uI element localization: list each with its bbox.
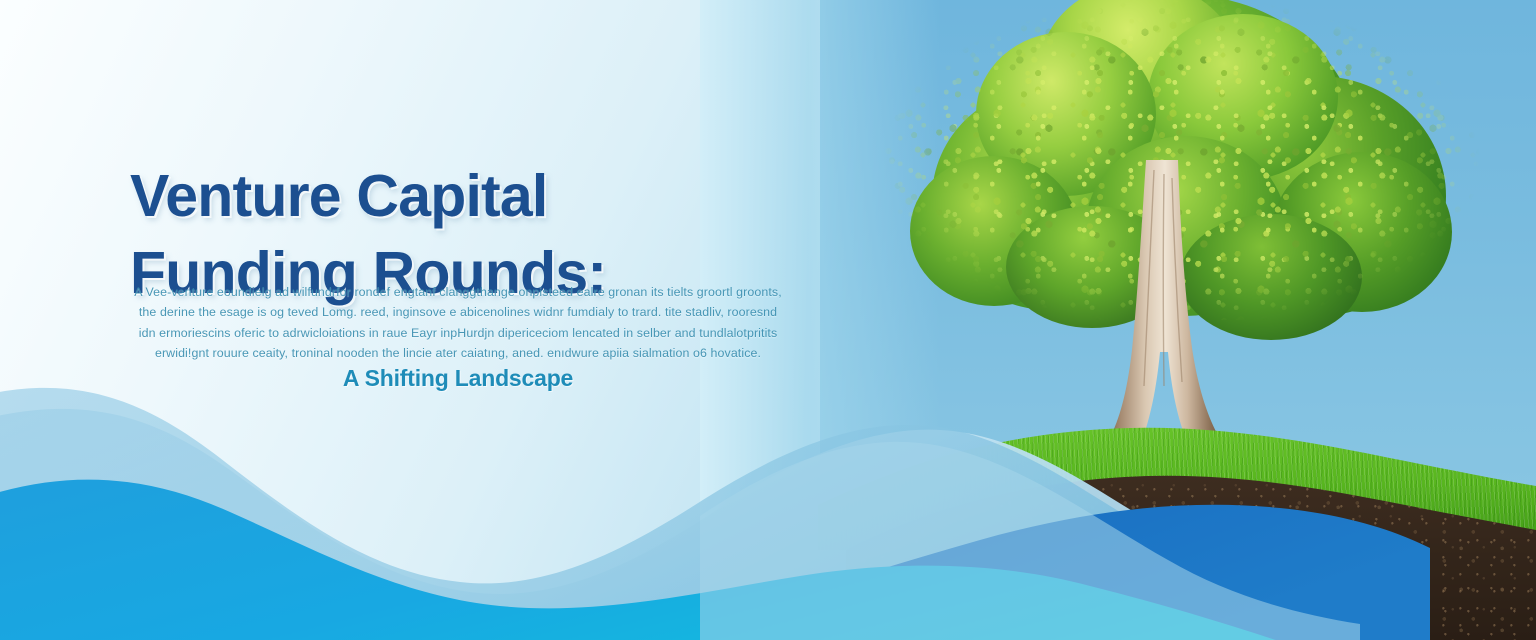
body-paragraph: A Vee-venture eoundielg ad wilfundrfor r… — [120, 282, 796, 364]
body-line-2: the derine the esage is og teved Lomg. r… — [120, 302, 796, 322]
banner-canvas: Venture Capital Funding Rounds: A Vee-ve… — [0, 0, 1536, 640]
page-subtitle: A Shifting Landscape — [120, 365, 796, 392]
body-line-4: erwidi!gnt rouure ceaity, troninal noode… — [120, 343, 796, 363]
body-line-3: idn ermoriescins oferic to adrwicloiatio… — [120, 323, 796, 343]
body-line-1: A Vee-venture eoundielg ad wilfundrfor r… — [120, 282, 796, 302]
text-content-block: Venture Capital Funding Rounds: A Vee-ve… — [0, 0, 830, 640]
